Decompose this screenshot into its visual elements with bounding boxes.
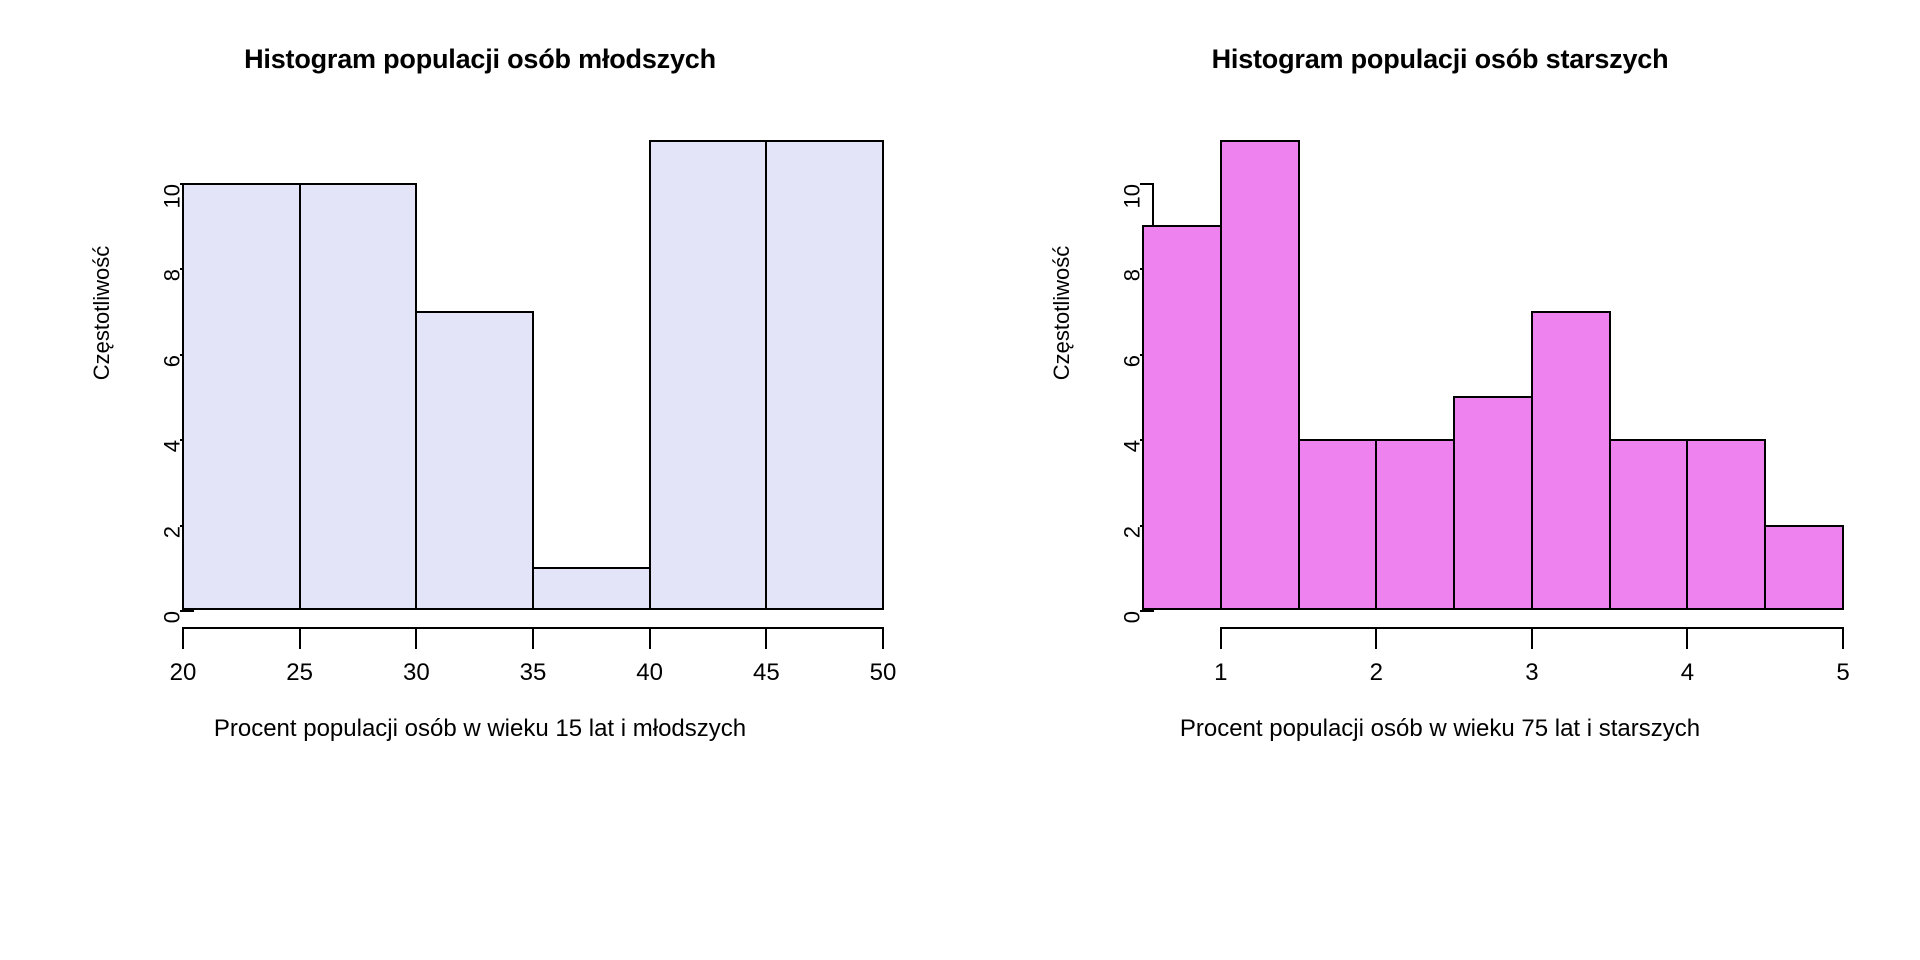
x-axis-tick-label: 4 — [1681, 659, 1694, 687]
histogram-bar — [1142, 225, 1222, 610]
y-axis-tick-label: 10 — [1119, 184, 1145, 208]
x-axis-tick — [532, 627, 534, 649]
histogram-bar — [299, 183, 418, 610]
x-axis-tick-label: 1 — [1214, 659, 1227, 687]
x-axis-tick-label: 50 — [870, 659, 897, 687]
x-axis-tick — [299, 627, 301, 649]
x-axis-label-younger: Procent populacji osób w wieku 15 lat i … — [0, 715, 960, 743]
plot-area-older — [1143, 140, 1843, 610]
histogram-bar — [649, 140, 768, 610]
chart-panel-younger: Histogram populacji osób młodszych Częst… — [0, 0, 960, 960]
chart-title-older: Histogram populacji osób starszych — [960, 44, 1920, 75]
x-axis-tick — [1842, 627, 1844, 649]
x-axis-tick — [1375, 627, 1377, 649]
x-axis-tick-label: 25 — [286, 659, 313, 687]
histogram-bar — [1609, 439, 1689, 610]
y-axis-tick-label: 0 — [159, 611, 185, 623]
histogram-bar — [1220, 140, 1300, 610]
x-axis-tick-label: 45 — [753, 659, 780, 687]
x-axis-tick-label: 30 — [403, 659, 430, 687]
histogram-bar — [415, 311, 534, 610]
x-axis-tick — [649, 627, 651, 649]
x-axis-tick — [1686, 627, 1688, 649]
x-axis-older: 12345 — [1143, 627, 1843, 687]
x-axis-tick-label: 35 — [520, 659, 547, 687]
x-axis-tick-label: 5 — [1836, 659, 1849, 687]
y-axis-tick-label: 0 — [1119, 611, 1145, 623]
y-axis-label-older: Częstotliwość — [1049, 163, 1075, 463]
plot-area-younger — [183, 140, 883, 610]
x-axis-tick — [882, 627, 884, 649]
histogram-bar — [1375, 439, 1455, 610]
x-axis-tick — [415, 627, 417, 649]
histogram-bar — [1298, 439, 1378, 610]
x-axis-tick — [1220, 627, 1222, 649]
chart-title-younger: Histogram populacji osób młodszych — [0, 44, 960, 75]
x-axis-tick-label: 40 — [636, 659, 663, 687]
x-axis-tick — [1531, 627, 1533, 649]
x-axis-label-older: Procent populacji osób w wieku 75 lat i … — [960, 715, 1920, 743]
histogram-page: Histogram populacji osób młodszych Częst… — [0, 0, 1920, 960]
histogram-bar — [765, 140, 884, 610]
x-axis-younger: 20253035404550 — [183, 627, 883, 687]
y-axis-label-younger: Częstotliwość — [89, 163, 115, 463]
histogram-bar — [1764, 525, 1844, 610]
x-axis-tick — [182, 627, 184, 649]
histogram-bar — [532, 567, 651, 610]
histogram-bar — [1686, 439, 1766, 610]
x-axis-tick — [765, 627, 767, 649]
x-axis-tick-label: 3 — [1525, 659, 1538, 687]
x-axis-tick-label: 2 — [1370, 659, 1383, 687]
chart-panel-older: Histogram populacji osób starszych Częst… — [960, 0, 1920, 960]
histogram-bar — [1453, 396, 1533, 610]
histogram-bar — [1531, 311, 1611, 610]
histogram-bar — [182, 183, 301, 610]
x-axis-tick-label: 20 — [170, 659, 197, 687]
